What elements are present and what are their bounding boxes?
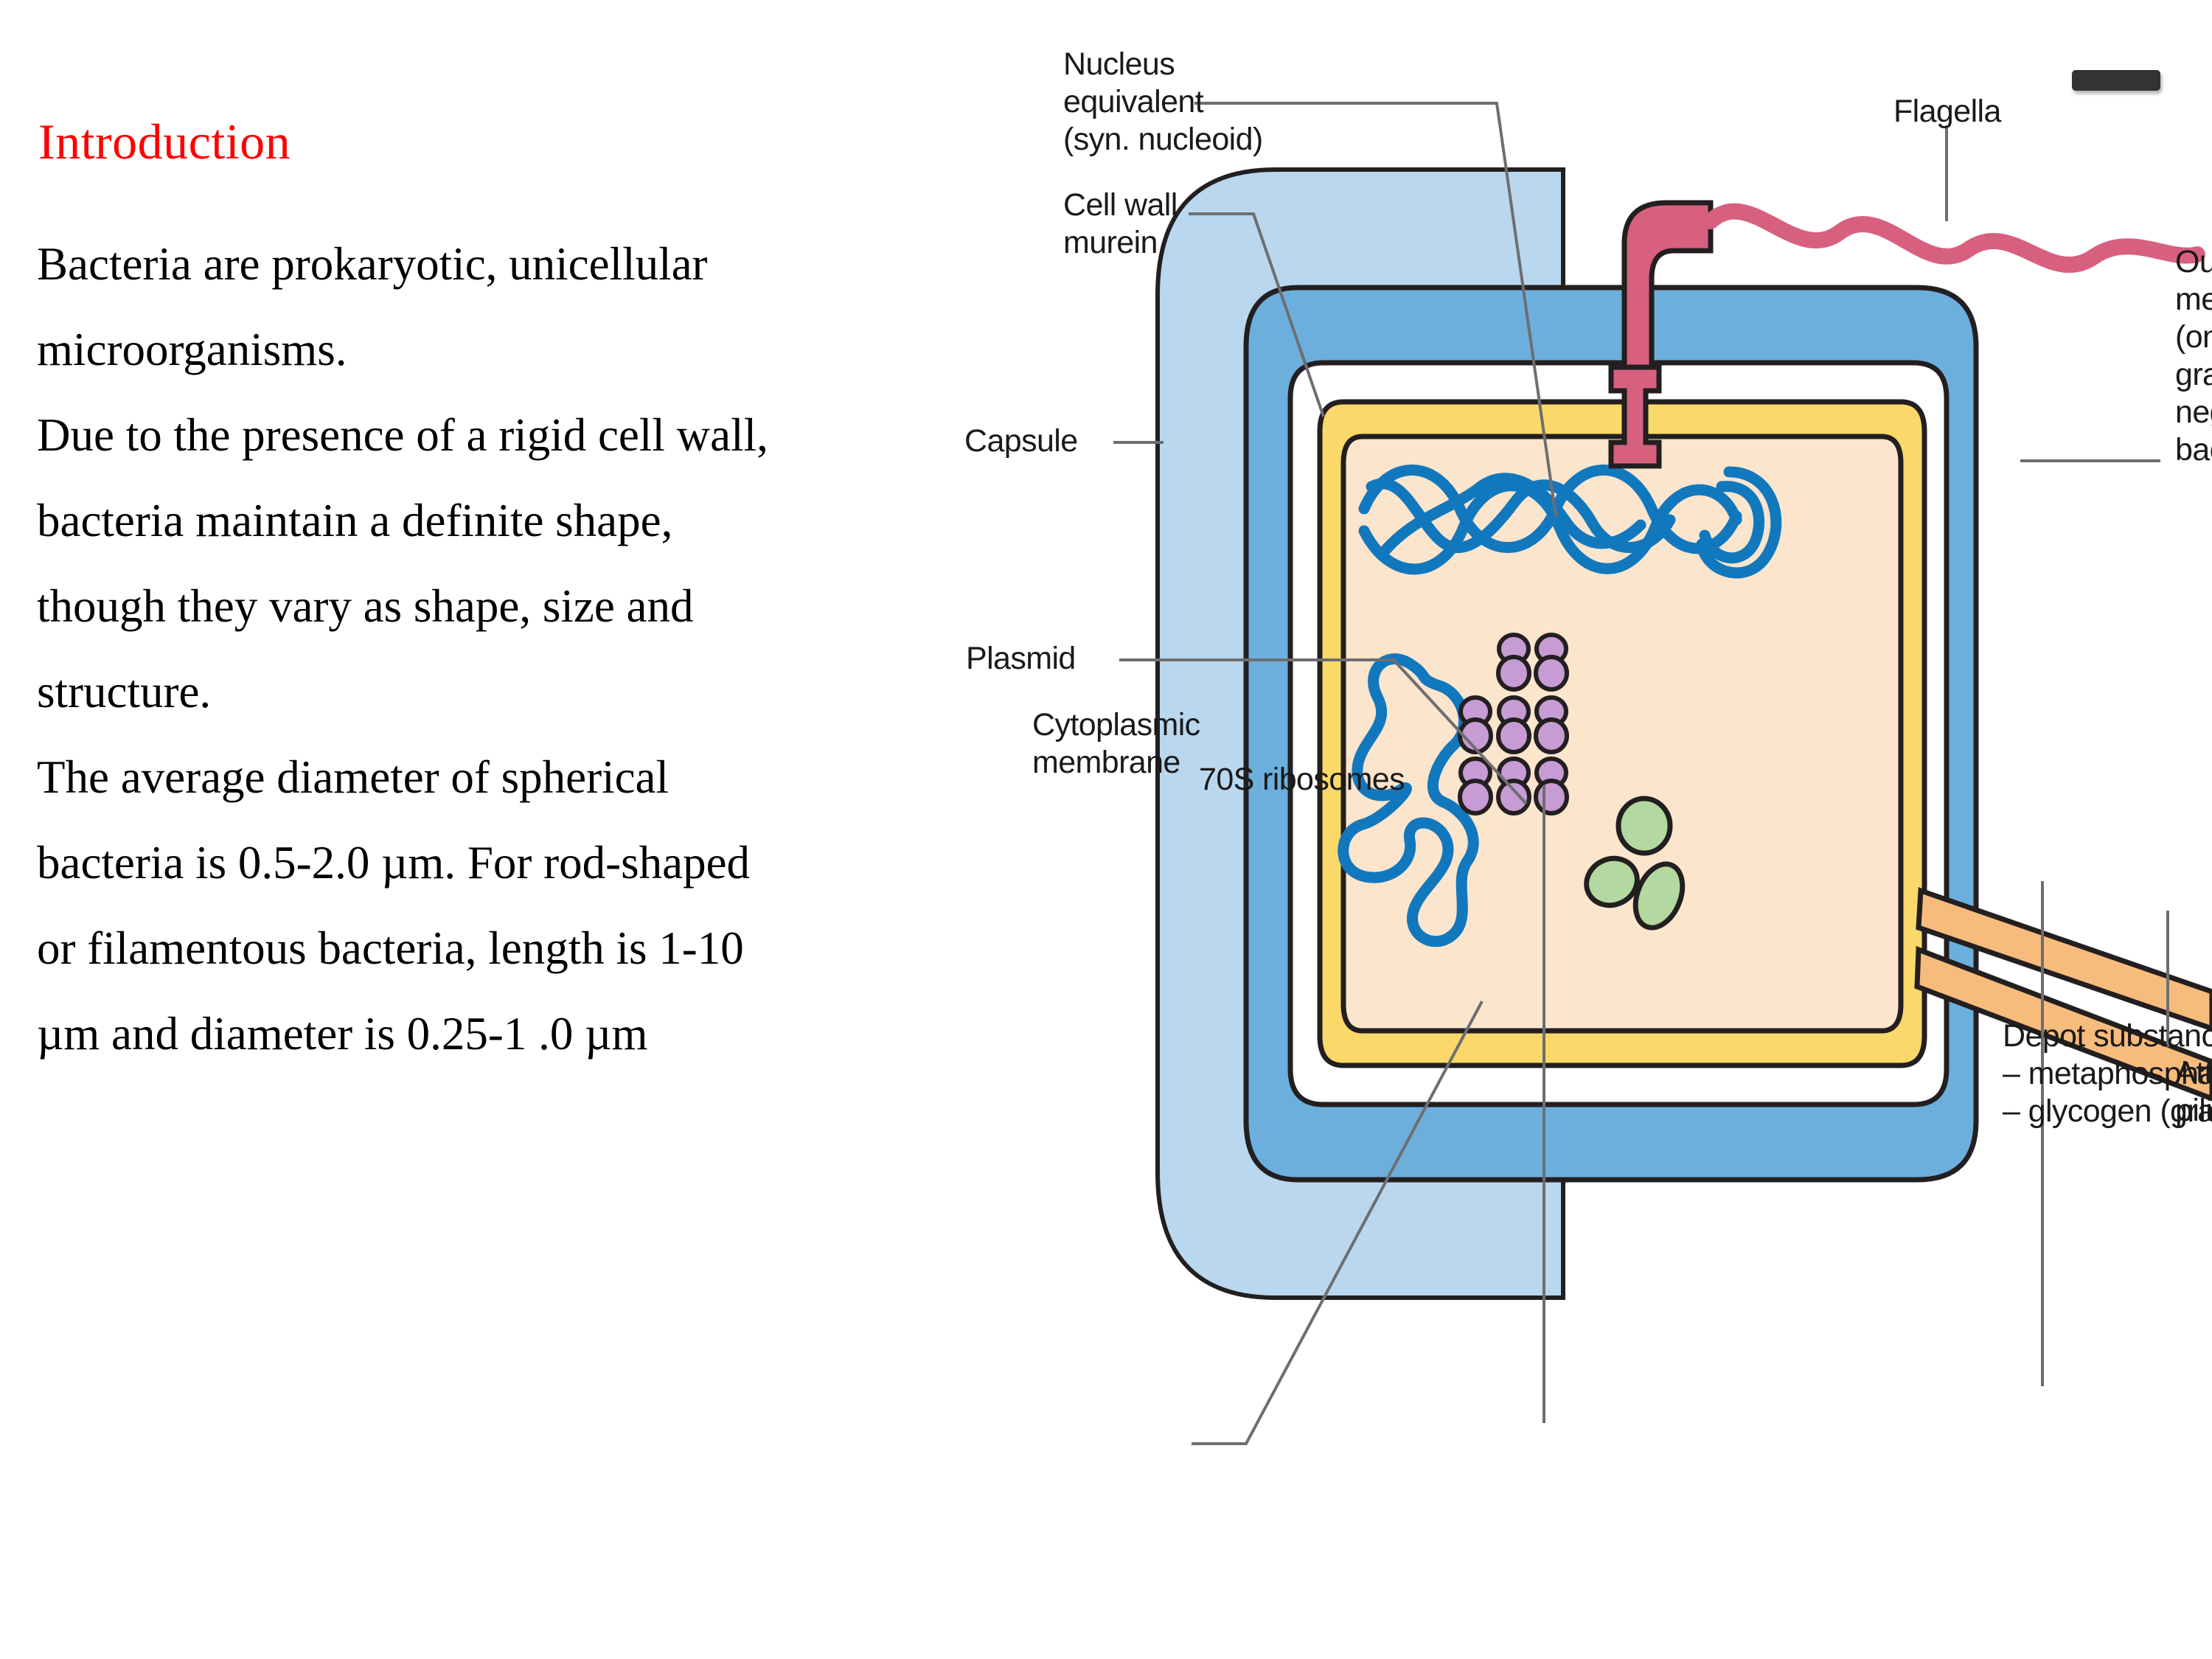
ribosome [1536, 698, 1567, 752]
slide-text-column: Introduction Bacteria are prokaryotic, u… [0, 0, 1077, 1659]
bacterial-cell-diagram: Nucleus equivalent (syn. nucleoid) Cell … [1069, 0, 2212, 1659]
body-line: structure. [37, 649, 1062, 734]
page-title: Introduction [38, 116, 291, 167]
depot-granule [1618, 799, 1670, 853]
label-depot-substances: Depot substances – metaphosphates (volut… [2003, 1018, 2212, 1130]
label-capsule: Capsule [964, 422, 1078, 460]
body-line: or filamentous bacteria, length is 1-10 [37, 905, 1062, 991]
body-line: microorganisms. [37, 307, 1062, 392]
ribosome [1536, 635, 1567, 689]
body-line: Bacteria are prokaryotic, unicellular [37, 221, 1062, 307]
slide-body-text: Bacteria are prokaryotic, unicellular mi… [37, 221, 1062, 1077]
body-line: bacteria is 0.5-2.0 µm. For rod-shaped [37, 820, 1062, 905]
body-line: Due to the presence of a rigid cell wall… [37, 392, 1062, 478]
body-line: The average diameter of spherical [37, 734, 1062, 820]
body-line: though they vary as shape, size and [37, 563, 1062, 649]
ribosome [1536, 759, 1567, 813]
body-line: bacteria maintain a definite shape, [37, 478, 1062, 563]
label-cytoplasmic-membrane: Cytoplasmic membrane [1032, 706, 1200, 782]
ribosome [1498, 759, 1529, 813]
label-70s-ribosomes: 70S ribosomes [1199, 761, 1405, 799]
body-line: µm and diameter is 0.25-1 .0 µm [37, 991, 1062, 1077]
cell-diagram-svg [1069, 0, 2212, 1659]
ribosome [1498, 635, 1529, 689]
label-plasmid: Plasmid [966, 640, 1076, 678]
label-nucleoid: Nucleus equivalent (syn. nucleoid) [1063, 46, 1263, 159]
ribosome [1498, 698, 1529, 752]
label-cell-wall: Cell wall murein [1063, 187, 1178, 262]
ribosome [1460, 759, 1491, 813]
ribosome [1460, 698, 1491, 752]
label-flagella: Flagella [1893, 93, 2001, 131]
label-outer-membrane: Outer membrane (only in gram- negative b… [2175, 243, 2212, 469]
